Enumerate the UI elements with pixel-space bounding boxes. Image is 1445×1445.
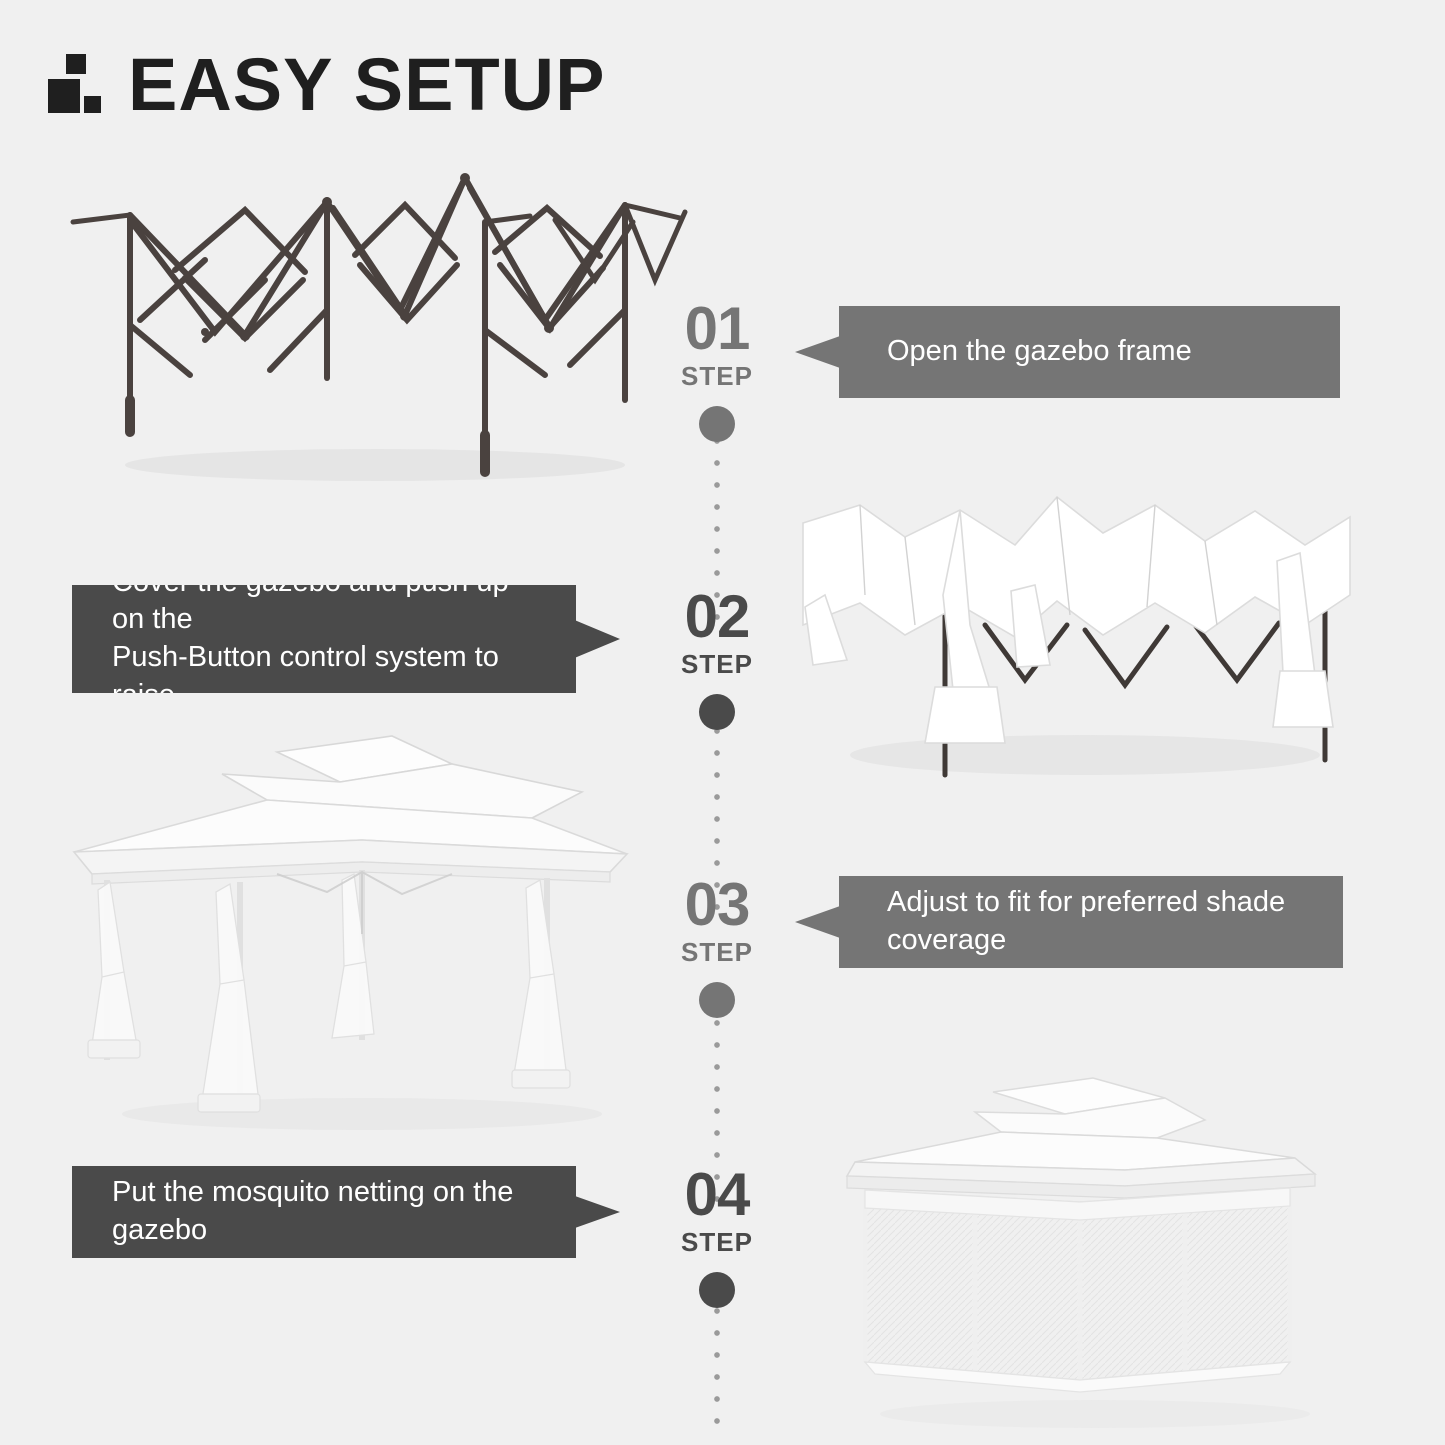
step-number-04: 04 (637, 1166, 797, 1223)
timeline-dots-4 (711, 1300, 723, 1440)
photo-gazebo-raised-with-curtains (62, 722, 662, 1142)
step-badge-04: 04 STEP (637, 1166, 797, 1308)
page-title: EASY SETUP (128, 48, 605, 122)
three-squares-logo-icon (48, 54, 102, 116)
step-callout-text-03: Adjust to fit for preferred shade covera… (887, 884, 1303, 959)
step-number-02: 02 (637, 588, 797, 645)
photo-gazebo-canopy-draped (785, 475, 1360, 805)
step-bullet-04 (699, 1272, 735, 1308)
step-callout-text-04: Put the mosquito netting on the gazebo (112, 1174, 528, 1249)
step-badge-02: 02 STEP (637, 588, 797, 730)
step-bullet-01 (699, 406, 735, 442)
step-bullet-02 (699, 694, 735, 730)
step-callout-text-02: Cover the gazebo and push up on the Push… (112, 564, 528, 715)
step-callout-04: Put the mosquito netting on the gazebo (72, 1166, 620, 1258)
step-callout-02: Cover the gazebo and push up on the Push… (72, 585, 620, 693)
step-word-02: STEP (637, 649, 797, 680)
step-callout-text-01: Open the gazebo frame (887, 333, 1192, 371)
photo-gazebo-with-mosquito-netting (825, 1062, 1360, 1442)
page-header: EASY SETUP (48, 48, 605, 122)
step-word-04: STEP (637, 1227, 797, 1258)
photo-gazebo-frame-unfolded (55, 160, 695, 490)
step-bullet-03 (699, 982, 735, 1018)
step-callout-03: Adjust to fit for preferred shade covera… (795, 876, 1343, 968)
step-callout-01: Open the gazebo frame (795, 306, 1340, 398)
